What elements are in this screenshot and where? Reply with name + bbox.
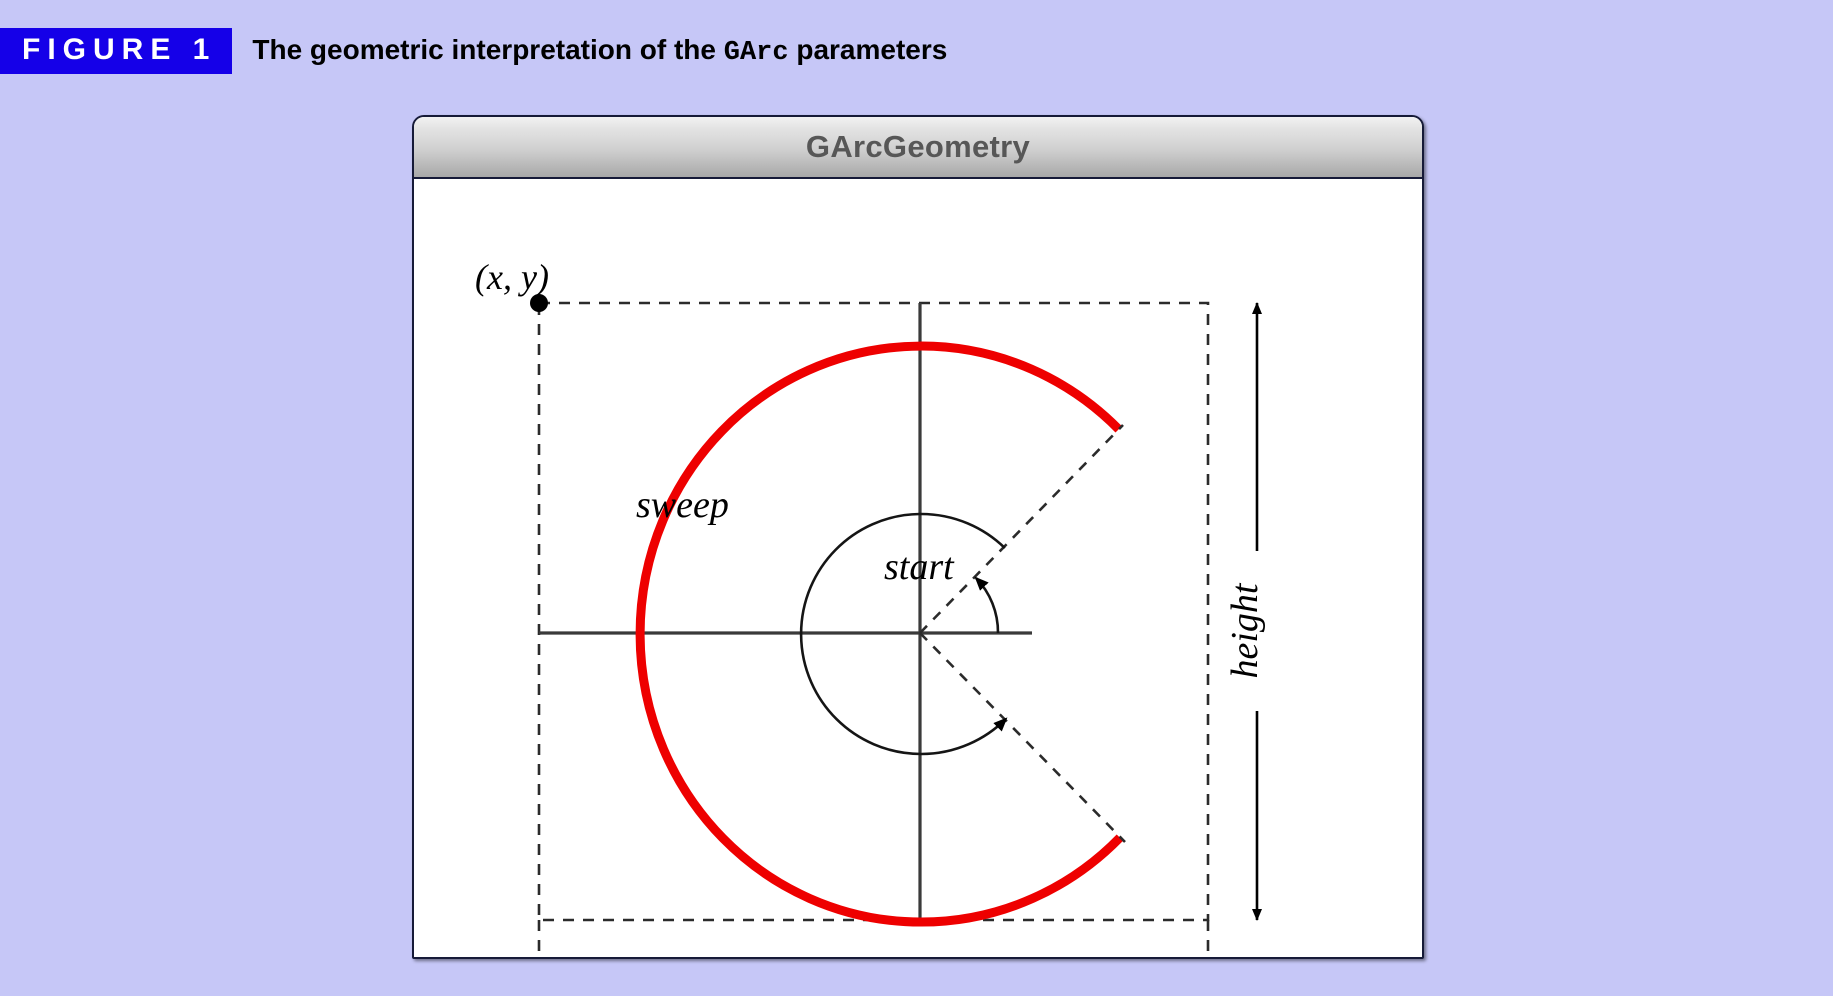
figure-number-badge: FIGURE 1 bbox=[0, 28, 232, 74]
origin-point-label: (x, y) bbox=[475, 257, 549, 297]
figure-caption-bar: FIGURE 1 The geometric interpretation of… bbox=[0, 28, 947, 74]
figure-caption-text: The geometric interpretation of the GArc… bbox=[252, 34, 947, 68]
end-angle-ray bbox=[920, 633, 1125, 842]
start-angle-ray bbox=[920, 425, 1123, 633]
window-title-bar[interactable]: GArcGeometry bbox=[414, 117, 1422, 179]
height-label: height bbox=[1224, 582, 1266, 678]
width-label: width bbox=[775, 950, 859, 955]
garc-geometry-diagram: (x, y) sweep start width height bbox=[414, 181, 1418, 955]
caption-prefix: The geometric interpretation of the bbox=[252, 34, 723, 65]
app-window: GArcGeometry bbox=[412, 115, 1424, 959]
window-title: GArcGeometry bbox=[806, 129, 1030, 165]
sweep-label: sweep bbox=[636, 484, 729, 526]
caption-suffix: parameters bbox=[789, 34, 948, 65]
start-angle-arc bbox=[976, 578, 998, 633]
caption-code-garc: GArc bbox=[724, 38, 789, 68]
diagram-canvas: (x, y) sweep start width height bbox=[414, 181, 1418, 955]
start-label: start bbox=[884, 546, 955, 588]
